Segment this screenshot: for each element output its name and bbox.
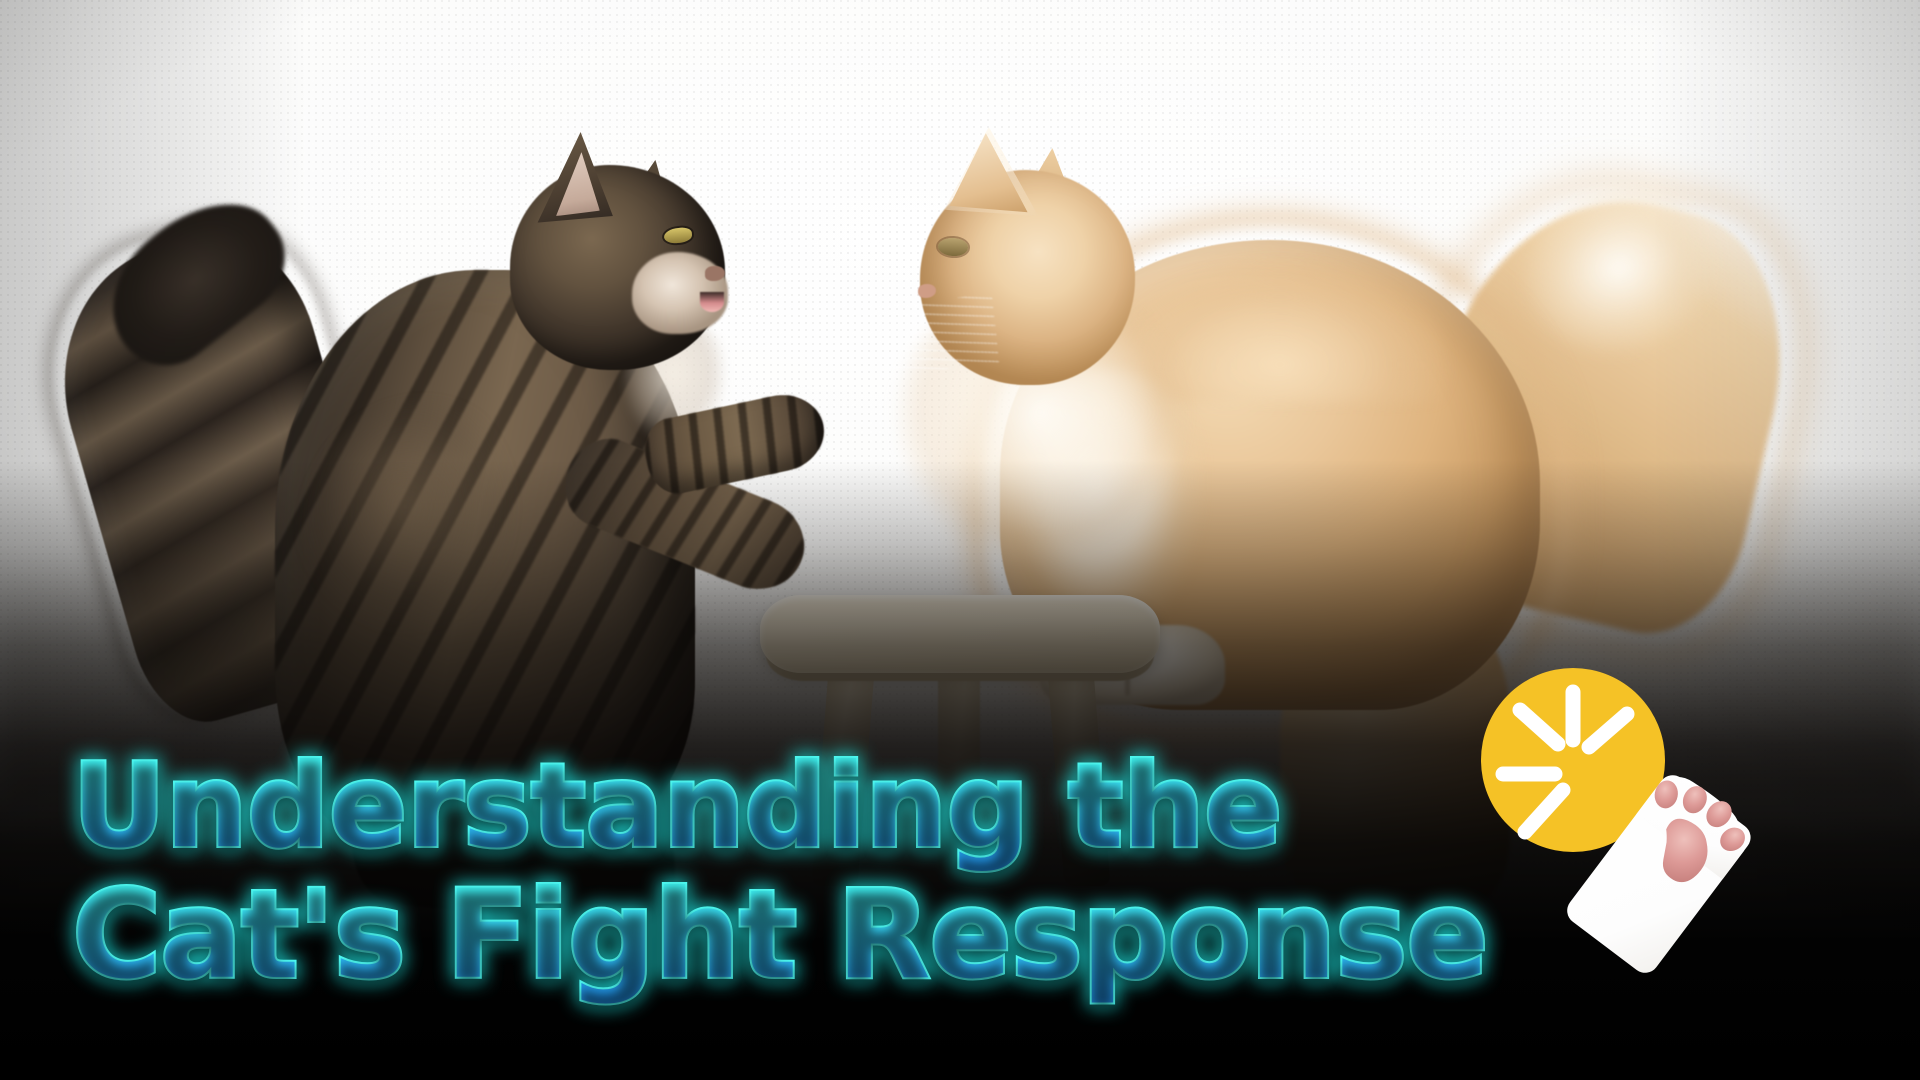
headline-line-2-text: Cat's Fight Response [72, 864, 1487, 1006]
cat-fight-response-banner: Understanding the Cat's Fight Response [0, 0, 1920, 1080]
tabby-haunch-highlight [300, 400, 550, 680]
banner-headline: Understanding the Cat's Fight Response [72, 751, 1492, 994]
stool-seat-top [760, 595, 1160, 673]
headline-line-1-text: Understanding the [72, 739, 1282, 874]
headline-line-2: Cat's Fight Response [72, 876, 1492, 994]
ginger-whiskers [873, 294, 1000, 376]
tabby-open-mouth [700, 292, 724, 312]
impact-burst-with-paw-icon [1455, 648, 1815, 948]
headline-line-1: Understanding the [72, 751, 1492, 864]
cat-paw-swipe-badge [1455, 648, 1815, 948]
